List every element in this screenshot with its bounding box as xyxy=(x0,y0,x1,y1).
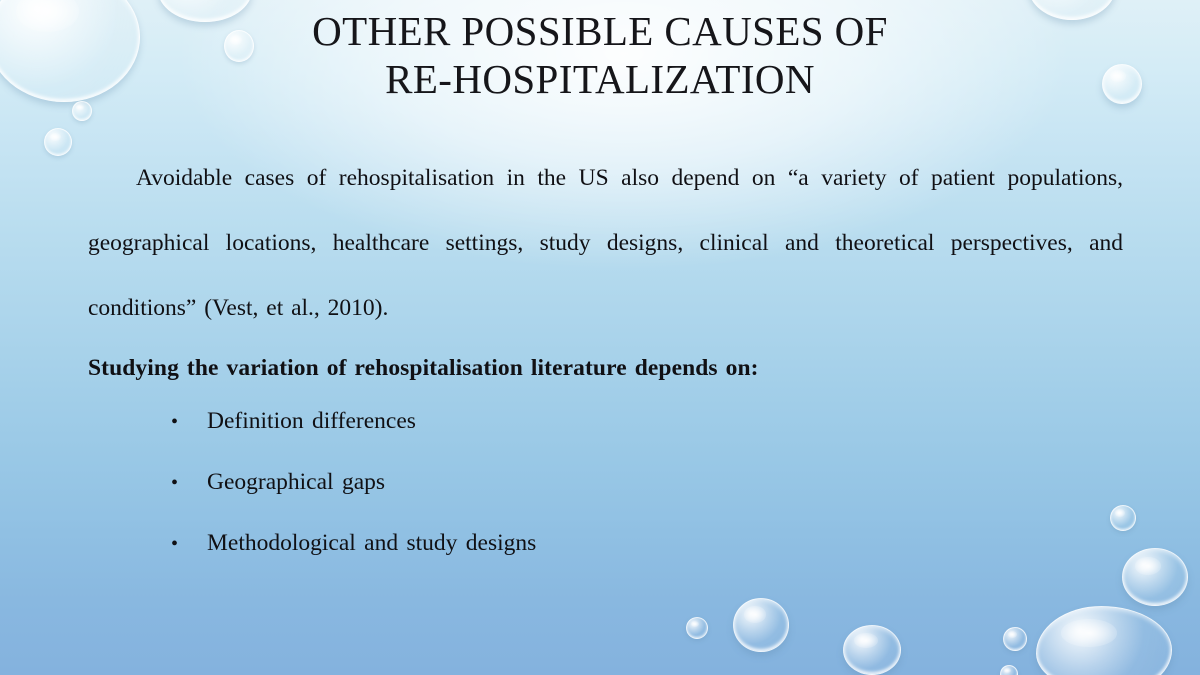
slide-title-block: OTHER POSSIBLE CAUSES OF RE-HOSPITALIZAT… xyxy=(150,8,1050,104)
bubble-icon xyxy=(733,598,789,652)
list-item: • Methodological and study designs xyxy=(88,529,1123,558)
list-item: • Geographical gaps xyxy=(88,468,1123,497)
bubble-icon xyxy=(686,617,708,639)
bubble-icon xyxy=(44,128,72,156)
list-item-label: Definition differences xyxy=(207,407,1123,435)
bubble-icon xyxy=(0,0,140,102)
bubble-icon xyxy=(1122,548,1188,606)
bubble-icon xyxy=(1003,627,1027,651)
bullet-dot-icon: • xyxy=(171,469,207,497)
slide-title-line-2: RE-HOSPITALIZATION xyxy=(150,56,1050,104)
bubble-icon xyxy=(72,101,92,121)
list-item-label: Geographical gaps xyxy=(207,468,1123,496)
list-item-label: Methodological and study designs xyxy=(207,529,1123,557)
slide-body-block: Avoidable cases of rehospitalisation in … xyxy=(88,146,1123,590)
bubble-icon xyxy=(1036,606,1172,675)
body-paragraph: Avoidable cases of rehospitalisation in … xyxy=(88,146,1123,341)
bullet-list: • Definition differences • Geographical … xyxy=(88,407,1123,558)
list-item: • Definition differences xyxy=(88,407,1123,436)
bullet-dot-icon: • xyxy=(171,530,207,558)
bullet-dot-icon: • xyxy=(171,408,207,436)
bubble-icon xyxy=(843,625,901,675)
slide-title-line-1: OTHER POSSIBLE CAUSES OF xyxy=(150,8,1050,56)
body-lead-bold: Studying the variation of rehospitalisat… xyxy=(88,351,1123,385)
presentation-slide: OTHER POSSIBLE CAUSES OF RE-HOSPITALIZAT… xyxy=(0,0,1200,675)
bubble-icon xyxy=(1102,64,1142,104)
bubble-icon xyxy=(1000,665,1018,675)
